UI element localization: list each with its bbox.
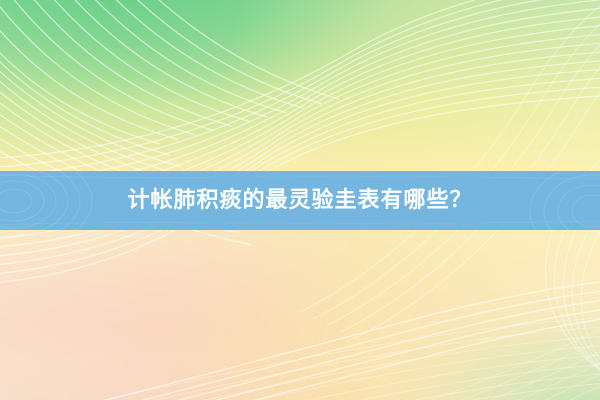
decorative-banner: 计帐肺积痰的最灵验圭表有哪些？ — [0, 0, 600, 400]
banner-title: 计帐肺积痰的最灵验圭表有哪些？ — [127, 190, 472, 212]
title-band: 计帐肺积痰的最灵验圭表有哪些？ — [0, 171, 600, 230]
